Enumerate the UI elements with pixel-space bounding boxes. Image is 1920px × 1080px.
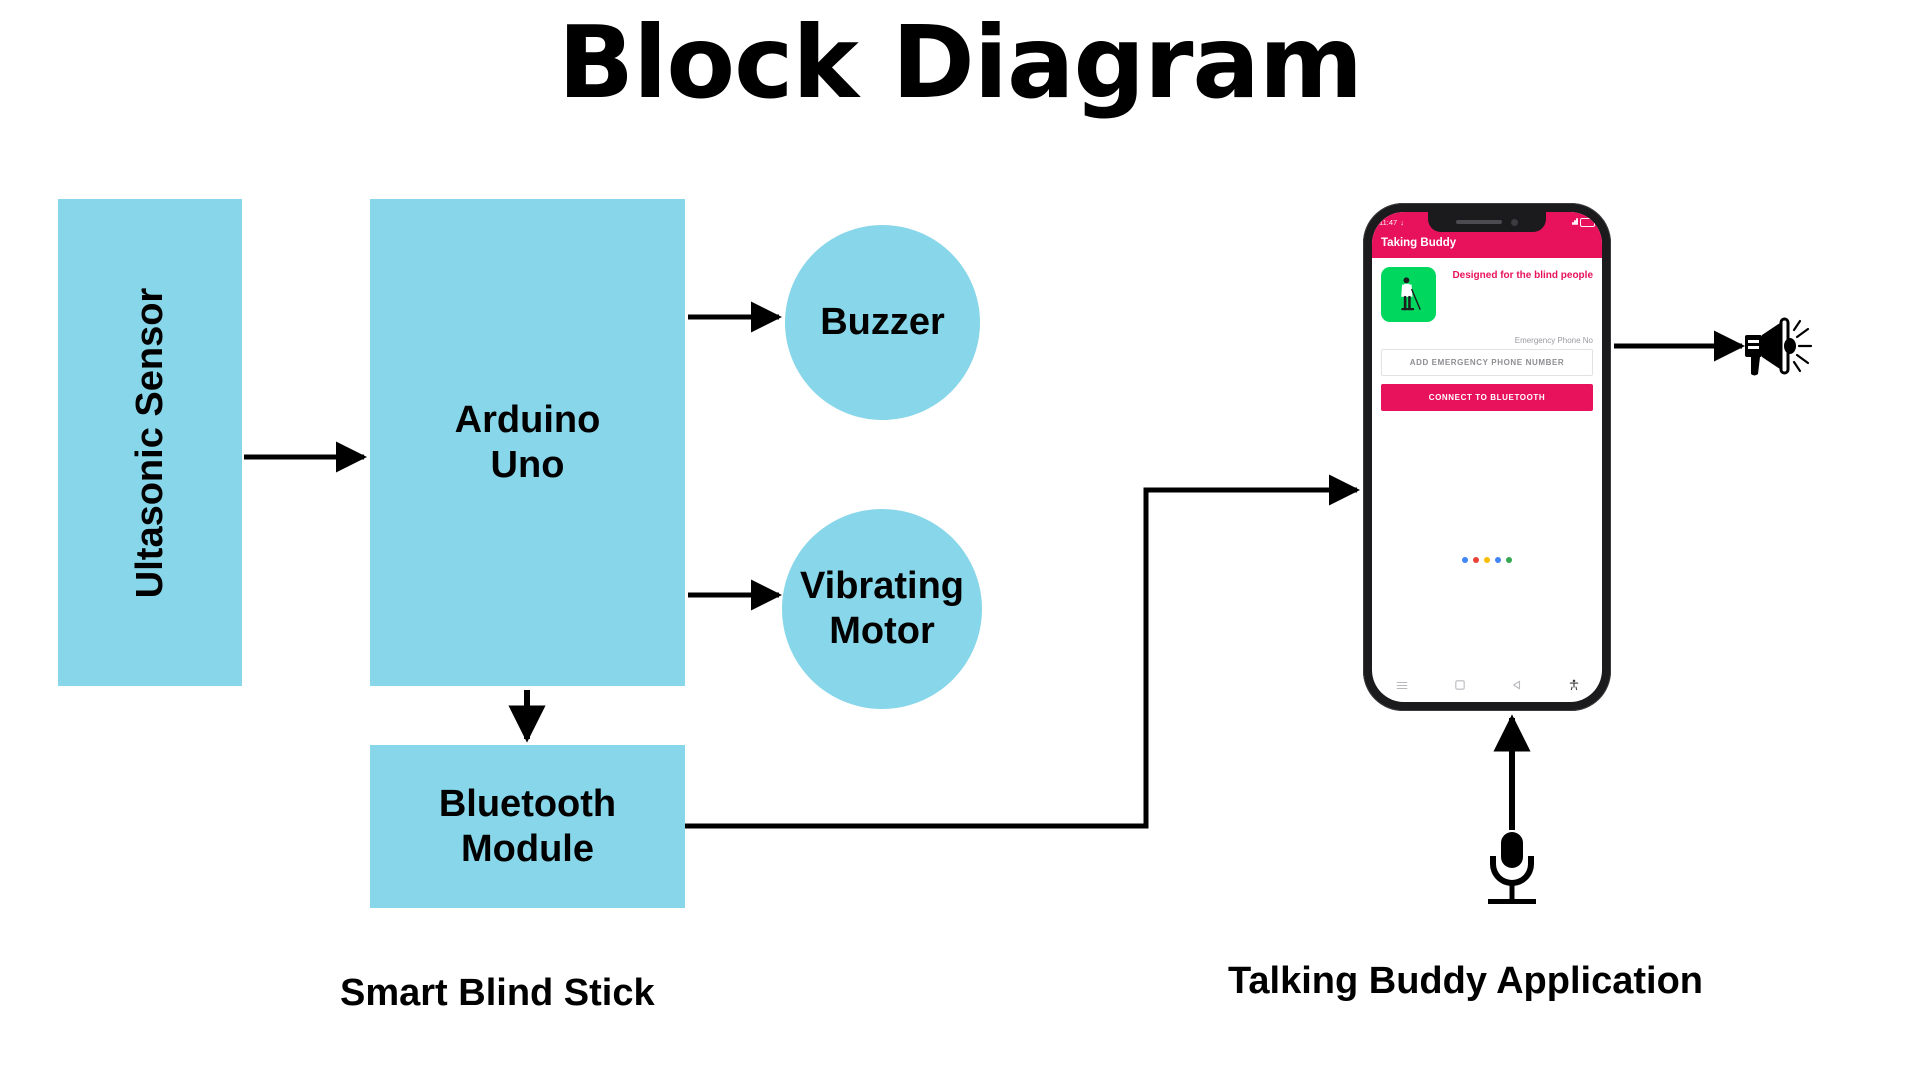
microphone-icon [1478,828,1546,908]
blind-person-with-cane-icon [1381,267,1436,322]
front-camera-icon [1511,219,1518,226]
add-emergency-phone-number-button[interactable]: ADD EMERGENCY PHONE NUMBER [1381,349,1593,376]
connector-wires [0,0,1920,1080]
block-vibrating-motor: Vibrating Motor [782,509,982,709]
app-header-row: Designed for the blind people [1381,267,1593,322]
block-label-arduino-line1: Arduino [455,398,601,443]
earpiece-speaker-icon [1456,220,1502,224]
connect-to-bluetooth-button[interactable]: CONNECT TO BLUETOOTH [1381,384,1593,411]
app-tagline: Designed for the blind people [1445,267,1593,283]
page-title: Block Diagram [0,4,1920,122]
block-arduino-uno: Arduino Uno [370,199,685,686]
emergency-phone-label: Emergency Phone No [1381,336,1593,345]
block-buzzer: Buzzer [785,225,980,420]
block-label-buzzer: Buzzer [820,301,945,344]
assistant-dot-5 [1506,557,1512,563]
phone-notch [1428,212,1546,232]
assistant-dot-4 [1495,557,1501,563]
phone-mockup: 11:47 ↓ Taking Buddy [1363,203,1611,711]
assistant-dot-2 [1473,557,1479,563]
menu-icon[interactable] [1396,681,1408,690]
back-triangle-icon[interactable] [1512,680,1522,690]
block-label-motor-line2: Motor [800,609,964,654]
assistant-dot-1 [1462,557,1468,563]
status-bar-right [1572,218,1595,227]
home-square-icon[interactable] [1455,680,1465,690]
block-label-arduino-line2: Uno [455,443,601,488]
battery-icon [1580,218,1595,227]
app-bar-title: Taking Buddy [1372,232,1602,258]
app-content: Designed for the blind people Emergency … [1372,258,1602,420]
status-bar-left: 11:47 ↓ [1379,218,1404,227]
block-label-bluetooth-line2: Module [439,827,616,872]
block-label-bluetooth-line1: Bluetooth [439,782,616,827]
megaphone-icon [1741,312,1819,382]
block-bluetooth-module: Bluetooth Module [370,745,685,908]
phone-screen: 11:47 ↓ Taking Buddy [1372,212,1602,702]
wire-bluetooth-to-phone [685,490,1357,826]
caption-smart-blind-stick: Smart Blind Stick [340,972,655,1015]
download-icon: ↓ [1400,218,1404,227]
block-label-motor-line1: Vibrating [800,564,964,609]
block-label-ultrasonic-sensor: Ultasonic Sensor [131,287,169,597]
caption-talking-buddy-application: Talking Buddy Application [1228,960,1703,1003]
accessibility-person-icon[interactable] [1569,679,1579,691]
signal-icon [1572,218,1578,227]
block-ultrasonic-sensor: Ultasonic Sensor [58,199,242,686]
status-time: 11:47 [1379,218,1397,227]
google-assistant-dots [1372,557,1602,563]
block-diagram-canvas: Block Diagram Ultasonic Sensor Arduino U… [0,0,1920,1080]
android-nav-bar [1372,674,1602,696]
assistant-dot-3 [1484,557,1490,563]
